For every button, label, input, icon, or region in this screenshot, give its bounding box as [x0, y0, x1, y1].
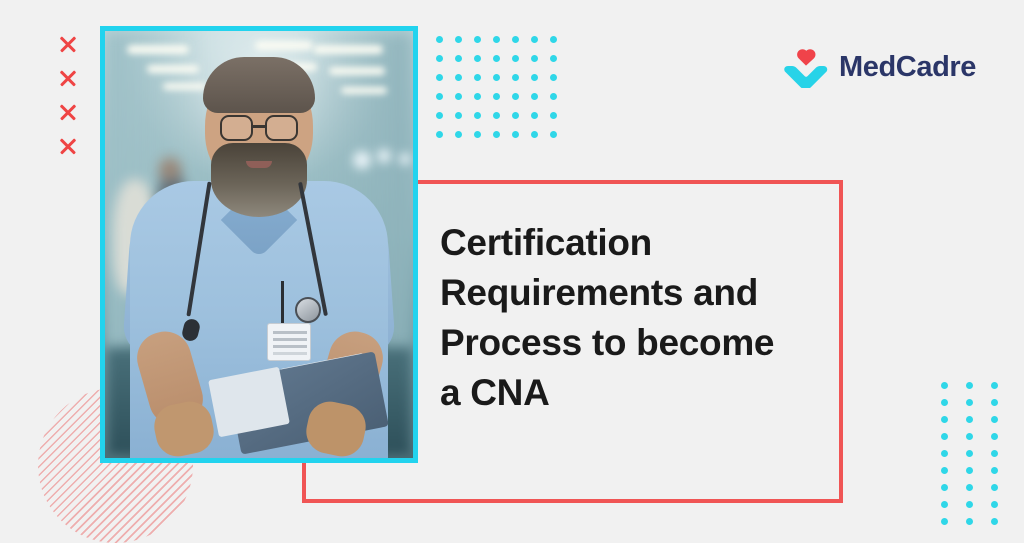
heart-in-hands-icon: [784, 46, 828, 88]
dot: [455, 131, 462, 138]
glasses-icon: [220, 115, 253, 141]
dot: [493, 55, 500, 62]
brand-name: MedCadre: [839, 51, 976, 84]
dot: [550, 112, 557, 119]
dot: [991, 501, 998, 508]
dot: [493, 74, 500, 81]
dot: [493, 36, 500, 43]
dot: [436, 131, 443, 138]
dot: [436, 112, 443, 119]
dot: [550, 131, 557, 138]
dot: [474, 55, 481, 62]
dot: [455, 74, 462, 81]
dot: [966, 518, 973, 525]
dot: [966, 382, 973, 389]
dot: [493, 131, 500, 138]
photo-image: [105, 31, 413, 458]
dot: [531, 112, 538, 119]
dot: [991, 416, 998, 423]
dot: [991, 450, 998, 457]
dot: [941, 467, 948, 474]
dot: [550, 93, 557, 100]
dot: [493, 93, 500, 100]
dot: [966, 433, 973, 440]
mouth: [246, 161, 272, 168]
dot: [455, 112, 462, 119]
dot: [550, 36, 557, 43]
dot: [455, 93, 462, 100]
dot: [493, 112, 500, 119]
dot: [531, 74, 538, 81]
dot: [966, 484, 973, 491]
dot: [966, 501, 973, 508]
banner-canvas: Certification Requirements and Process t…: [0, 0, 1024, 538]
dot: [531, 55, 538, 62]
x-mark-icon: [58, 68, 78, 88]
dot: [966, 467, 973, 474]
dot: [436, 93, 443, 100]
dot: [474, 93, 481, 100]
id-badge-icon: [267, 323, 311, 361]
medcadre-logo-icon: [784, 46, 828, 88]
dot: [512, 131, 519, 138]
dot: [941, 433, 948, 440]
title-line: Certification: [440, 218, 832, 268]
x-mark-icon: [58, 34, 78, 54]
dot: [991, 484, 998, 491]
dot: [474, 131, 481, 138]
title-line: Requirements and: [440, 268, 832, 318]
dot: [531, 131, 538, 138]
dot: [436, 74, 443, 81]
dot: [941, 484, 948, 491]
brand-logo[interactable]: MedCadre: [784, 46, 976, 88]
dot: [474, 36, 481, 43]
dot: [941, 399, 948, 406]
badge-cord: [281, 281, 284, 325]
dot: [512, 36, 519, 43]
dot: [941, 518, 948, 525]
title-line: Process to become: [440, 318, 832, 368]
dot: [474, 112, 481, 119]
x-mark-group: [58, 34, 78, 170]
glasses-icon: [265, 115, 298, 141]
glasses-bridge: [253, 125, 265, 128]
x-mark-icon: [58, 102, 78, 122]
stethoscope-icon: [295, 297, 321, 323]
dot: [550, 74, 557, 81]
dot: [991, 467, 998, 474]
x-mark-icon: [58, 136, 78, 156]
dot: [941, 501, 948, 508]
dot: [966, 450, 973, 457]
dot: [941, 416, 948, 423]
dot: [436, 55, 443, 62]
title-line: a CNA: [440, 368, 832, 418]
dot: [474, 74, 481, 81]
dot: [941, 382, 948, 389]
dot: [512, 93, 519, 100]
dot: [991, 382, 998, 389]
dot: [455, 55, 462, 62]
dot: [966, 416, 973, 423]
dot: [550, 55, 557, 62]
dot: [991, 399, 998, 406]
healthcare-worker-figure: [105, 31, 413, 458]
page-title: Certification Requirements and Process t…: [440, 218, 832, 418]
dot: [966, 399, 973, 406]
dot: [436, 36, 443, 43]
dot: [512, 55, 519, 62]
dot: [991, 518, 998, 525]
hair: [203, 57, 315, 113]
dot: [455, 36, 462, 43]
dot-grid-icon: [436, 36, 569, 150]
dot: [512, 74, 519, 81]
dot: [941, 450, 948, 457]
dot: [531, 93, 538, 100]
beard: [211, 143, 307, 217]
dot: [991, 433, 998, 440]
dot-grid-icon: [941, 382, 1016, 535]
dot: [531, 36, 538, 43]
hero-photo: [100, 26, 418, 463]
dot: [512, 112, 519, 119]
